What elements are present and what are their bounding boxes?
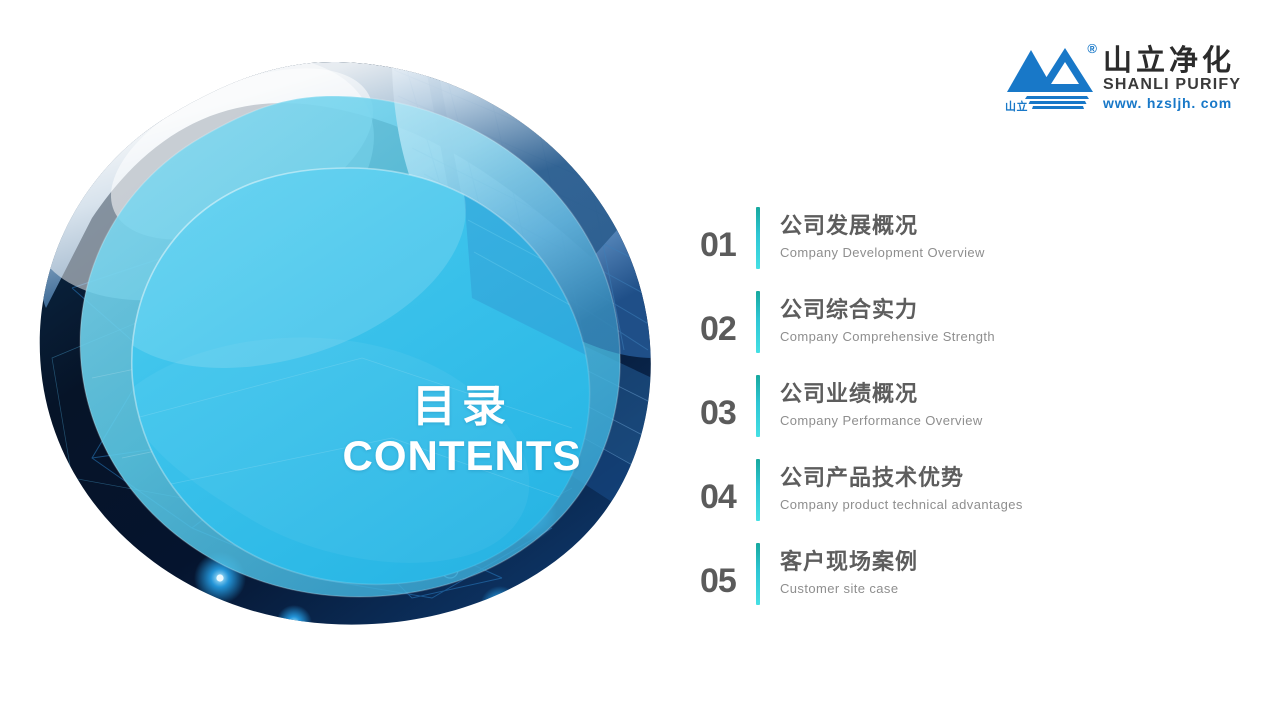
item-text-block: 公司综合实力 Company Comprehensive Strength [780, 295, 1170, 349]
brand-name-cn: 山立净化 [1103, 46, 1241, 76]
logo-text-block: 山立净化 SHANLI PURIFY www. hzsljh. com [1103, 40, 1241, 111]
item-number: 04 [700, 466, 756, 514]
item-text-block: 公司发展概况 Company Development Overview [780, 211, 1170, 265]
item-title-en: Company Comprehensive Strength [780, 325, 1170, 350]
item-accent-bar [756, 375, 760, 437]
company-logo: ® 山立 山立净化 SHANLI PURIFY www. hzsljh. com [1003, 40, 1223, 118]
item-number: 03 [700, 382, 756, 430]
contents-item-01[interactable]: 01 公司发展概况 Company Development Overview [700, 196, 1170, 280]
contents-item-03[interactable]: 03 公司业绩概况 Company Performance Overview [700, 364, 1170, 448]
item-title-en: Company product technical advantages [780, 493, 1170, 518]
brand-name-en: SHANLI PURIFY [1103, 76, 1241, 94]
item-title-cn: 公司发展概况 [780, 211, 1170, 241]
contents-item-02[interactable]: 02 公司综合实力 Company Comprehensive Strength [700, 280, 1170, 364]
item-title-en: Company Development Overview [780, 241, 1170, 266]
item-text-block: 公司产品技术优势 Company product technical advan… [780, 463, 1170, 517]
item-text-block: 公司业绩概况 Company Performance Overview [780, 379, 1170, 433]
contents-item-04[interactable]: 04 公司产品技术优势 Company product technical ad… [700, 448, 1170, 532]
item-number: 01 [700, 214, 756, 262]
shanli-mountain-logo-icon: ® 山立 [1003, 40, 1099, 112]
item-title-en: Company Performance Overview [780, 409, 1170, 434]
item-number: 05 [700, 550, 756, 598]
registered-trademark-icon: ® [1087, 42, 1097, 55]
contents-list: 01 公司发展概况 Company Development Overview 0… [700, 196, 1170, 616]
item-title-cn: 客户现场案例 [780, 547, 1170, 577]
item-title-cn: 公司产品技术优势 [780, 463, 1170, 493]
item-accent-bar [756, 291, 760, 353]
item-accent-bar [756, 207, 760, 269]
contents-item-05[interactable]: 05 客户现场案例 Customer site case [700, 532, 1170, 616]
item-number: 02 [700, 298, 756, 346]
slide-canvas: ® 山立 山立净化 SHANLI PURIFY www. hzsljh. com [0, 0, 1280, 720]
item-title-cn: 公司综合实力 [780, 295, 1170, 325]
brand-website: www. hzsljh. com [1103, 95, 1241, 111]
hero-blob-graphic: 目录 CONTENTS [32, 58, 652, 636]
item-title-en: Customer site case [780, 577, 1170, 602]
item-accent-bar [756, 459, 760, 521]
item-accent-bar [756, 543, 760, 605]
item-text-block: 客户现场案例 Customer site case [780, 547, 1170, 601]
item-title-cn: 公司业绩概况 [780, 379, 1170, 409]
logo-mark-caption: 山立 [1005, 102, 1028, 113]
